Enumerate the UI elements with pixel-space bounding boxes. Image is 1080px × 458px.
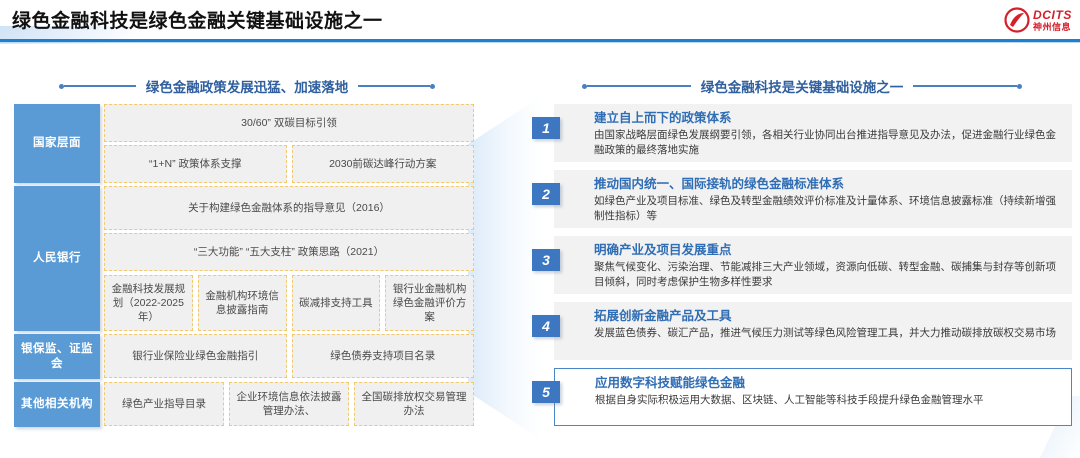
policy-cell[interactable]: “1+N” 政策体系支撑 [104,145,287,183]
logo-text-cn: 神州信息 [1033,23,1072,32]
table-row: 人民银行 关于构建绿色金融体系的指导意见（2016） “三大功能” “五大支柱”… [14,186,474,331]
cell-group: 30/60” 双碳目标引领 [104,104,474,142]
list-item[interactable]: 3 明确产业及项目发展重点 聚焦气候变化、污染治理、节能减排三大产业领域，资源向… [532,236,1072,294]
cell-group: “三大功能” “五大支柱” 政策思路（2021） [104,233,474,272]
item-title: 应用数字科技赋能绿色金融 [595,375,1063,391]
item-panel: 明确产业及项目发展重点 聚焦气候变化、污染治理、节能减排三大产业领域，资源向低碳… [554,236,1072,294]
item-description: 聚焦气候变化、污染治理、节能减排三大产业领域，资源向低碳、转型金融、碳捕集与封存… [594,260,1064,290]
policy-cell[interactable]: 关于构建绿色金融体系的指导意见（2016） [104,186,474,230]
policy-cell[interactable]: “三大功能” “五大支柱” 政策思路（2021） [104,233,474,271]
policy-cell[interactable]: 绿色债券支持项目名录 [292,334,475,378]
logo-wordmark: DCITS 神州信息 [1033,9,1072,32]
policy-cell[interactable]: 银行业金融机构绿色金融评价方案 [385,275,474,331]
cell-group: 绿色产业指导目录 企业环境信息依法披露管理办法、 全国碳排放权交易管理办法 [104,382,474,427]
item-panel: 应用数字科技赋能绿色金融 根据自身实际积极运用大数据、区块链、人工智能等科技手段… [554,368,1072,426]
logo-text-en: DCITS [1033,9,1072,21]
table-row: 其他相关机构 绿色产业指导目录 企业环境信息依法披露管理办法、 全国碳排放权交易… [14,382,474,427]
heading-line [358,85,430,87]
row-body: 绿色产业指导目录 企业环境信息依法披露管理办法、 全国碳排放权交易管理办法 [100,382,474,427]
item-description: 如绿色产业及项目标准、绿色及转型金融绩效评价标准及计量体系、环境信息披露标准（持… [594,194,1064,224]
item-number-badge: 2 [532,183,560,205]
policy-cell[interactable]: 全国碳排放权交易管理办法 [354,382,474,426]
cell-group: “1+N” 政策体系支撑 2030前碳达峰行动方案 [104,145,474,183]
item-number-badge: 4 [532,315,560,337]
row-label-cbirc-csrc: 银保监、证监会 [14,334,100,379]
policy-cell[interactable]: 银行业保险业绿色金融指引 [104,334,287,378]
item-title: 拓展创新金融产品及工具 [594,308,1064,324]
item-description: 由国家战略层面绿色发展纲要引领，各相关行业协同出台推进指导意见及办法，促进金融行… [594,128,1064,158]
company-logo: DCITS 神州信息 [1004,5,1072,35]
policy-cell[interactable]: 金融机构环境信息披露指南 [198,275,287,331]
policy-cell[interactable]: 2030前碳达峰行动方案 [292,145,475,183]
item-panel: 拓展创新金融产品及工具 发展蓝色债券、碳汇产品，推进气候压力测试等绿色风险管理工… [554,302,1072,360]
item-description: 发展蓝色债券、碳汇产品，推进气候压力测试等绿色风险管理工具，并大力推动碳排放碳权… [594,326,1064,341]
row-body: 30/60” 双碳目标引领 “1+N” 政策体系支撑 2030前碳达峰行动方案 [100,104,474,183]
item-panel: 建立自上而下的政策体系 由国家战略层面绿色发展纲要引领，各相关行业协同出台推进指… [554,104,1072,162]
list-item[interactable]: 1 建立自上而下的政策体系 由国家战略层面绿色发展纲要引领，各相关行业协同出台推… [532,104,1072,162]
row-label-national: 国家层面 [14,104,100,183]
policy-cell[interactable]: 企业环境信息依法披露管理办法、 [229,382,349,426]
header-rule-secondary [0,42,1080,43]
cell-group: 银行业保险业绿色金融指引 绿色债券支持项目名录 [104,334,474,379]
policy-table: 国家层面 30/60” 双碳目标引领 “1+N” 政策体系支撑 2030前碳达峰… [14,104,474,430]
heading-line [913,85,1017,87]
item-number-badge: 1 [532,117,560,139]
item-title: 明确产业及项目发展重点 [594,242,1064,258]
heading-dot-icon [430,84,435,89]
right-section-title: 绿色金融科技是关键基础设施之一 [691,76,914,96]
dcits-swoosh-icon [1004,7,1030,33]
cell-group: 金融科技发展规划（2022-2025年） 金融机构环境信息披露指南 碳减排支持工… [104,275,474,331]
row-body: 银行业保险业绿色金融指引 绿色债券支持项目名录 [100,334,474,379]
heading-dot-icon [1017,84,1022,89]
row-body: 关于构建绿色金融体系的指导意见（2016） “三大功能” “五大支柱” 政策思路… [100,186,474,331]
page-title: 绿色金融科技是绿色金融关键基础设施之一 [12,6,383,33]
policy-cell[interactable]: 30/60” 双碳目标引领 [104,104,474,142]
heading-rule-right [913,84,1022,89]
table-row: 国家层面 30/60” 双碳目标引领 “1+N” 政策体系支撑 2030前碳达峰… [14,104,474,183]
left-section-heading: 绿色金融政策发展迅猛、加速落地 [14,76,480,96]
policy-cell[interactable]: 碳减排支持工具 [292,275,381,331]
item-title: 推动国内统一、国际接轨的绿色金融标准体系 [594,176,1064,192]
heading-line [64,85,136,87]
heading-rule-right [358,84,435,89]
slide-canvas: 绿色金融科技是绿色金融关键基础设施之一 DCITS 神州信息 绿色金融政策发展迅… [0,0,1080,458]
item-number-badge: 5 [532,381,560,403]
heading-rule-left [59,84,136,89]
table-row: 银保监、证监会 银行业保险业绿色金融指引 绿色债券支持项目名录 [14,334,474,379]
slide-header: 绿色金融科技是绿色金融关键基础设施之一 DCITS 神州信息 [0,0,1080,44]
policy-cell[interactable]: 绿色产业指导目录 [104,382,224,426]
list-item[interactable]: 4 拓展创新金融产品及工具 发展蓝色债券、碳汇产品，推进气候压力测试等绿色风险管… [532,302,1072,360]
key-points-list: 1 建立自上而下的政策体系 由国家战略层面绿色发展纲要引领，各相关行业协同出台推… [532,104,1072,434]
item-panel: 推动国内统一、国际接轨的绿色金融标准体系 如绿色产业及项目标准、绿色及转型金融绩… [554,170,1072,228]
policy-cell[interactable]: 金融科技发展规划（2022-2025年） [104,275,193,331]
list-item[interactable]: 2 推动国内统一、国际接轨的绿色金融标准体系 如绿色产业及项目标准、绿色及转型金… [532,170,1072,228]
item-description: 根据自身实际积极运用大数据、区块链、人工智能等科技手段提升绿色金融管理水平 [595,393,1063,408]
left-section-title: 绿色金融政策发展迅猛、加速落地 [136,76,359,96]
right-section-heading: 绿色金融科技是关键基础设施之一 [532,76,1072,96]
heading-rule-left [582,84,691,89]
list-item-highlighted[interactable]: 5 应用数字科技赋能绿色金融 根据自身实际积极运用大数据、区块链、人工智能等科技… [532,368,1072,426]
row-label-pboc: 人民银行 [14,186,100,331]
row-label-other-agencies: 其他相关机构 [14,382,100,427]
item-title: 建立自上而下的政策体系 [594,110,1064,126]
cell-group: 关于构建绿色金融体系的指导意见（2016） [104,186,474,230]
heading-line [587,85,691,87]
funnel-decoration [468,96,542,440]
item-number-badge: 3 [532,249,560,271]
